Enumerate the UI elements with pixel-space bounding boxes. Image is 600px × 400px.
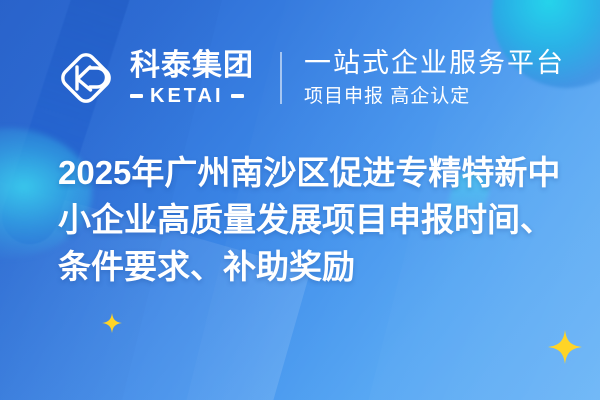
vertical-divider: [280, 52, 282, 104]
slogan-main: 一站式企业服务平台: [304, 48, 565, 79]
page-title: 2025年广州南沙区促进专精特新中小企业高质量发展项目申报时间、条件要求、补助奖…: [58, 150, 563, 291]
brand-name-en-row: KETAI: [130, 86, 254, 106]
brand-name-en: KETAI: [150, 86, 224, 106]
brand-block: 科泰集团 KETAI: [130, 51, 254, 106]
promo-banner: 科泰集团 KETAI 一站式企业服务平台 项目申报 高企认定 2025年广州南沙…: [0, 0, 600, 400]
banner-header: 科泰集团 KETAI 一站式企业服务平台 项目申报 高企认定: [56, 40, 565, 116]
ketai-diamond-kd-logo: [56, 48, 116, 108]
four-point-star-icon-large: [548, 330, 582, 364]
slogan-sub: 项目申报 高企认定: [304, 86, 565, 108]
brand-rule-right-icon: [231, 94, 244, 98]
slogan-block: 一站式企业服务平台 项目申报 高企认定: [304, 48, 565, 108]
brand-name-cn: 科泰集团: [130, 51, 254, 81]
brand-rule-left-icon: [130, 94, 143, 98]
four-point-star-icon-small: [102, 313, 122, 333]
